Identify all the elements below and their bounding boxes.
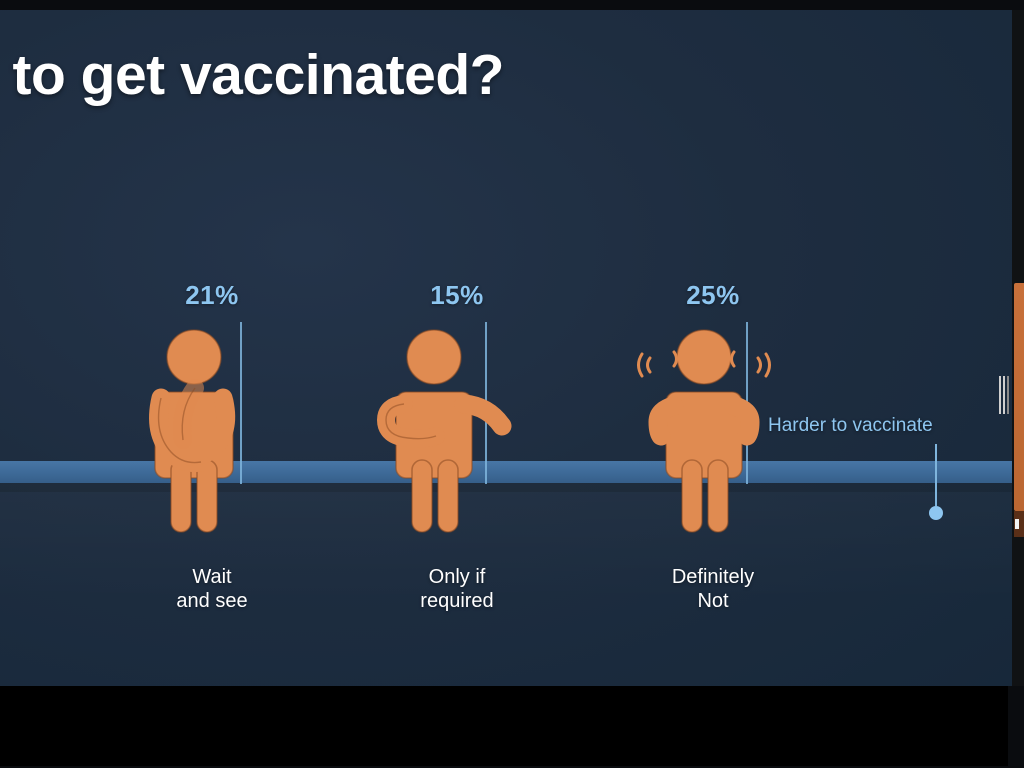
- percent-label-only-if-required: 15%: [362, 280, 552, 312]
- category-label-cropped: e: [0, 565, 40, 589]
- presentation-slide: plan to get vaccinated? en? % e 21%: [0, 10, 1012, 686]
- chart-column-wait-and-see: 21% Wait and see: [117, 280, 307, 312]
- top-letterbox-bar: [0, 0, 1024, 10]
- category-label-definitely-not: Definitely Not: [618, 565, 808, 614]
- annotation-end-dot: [929, 506, 943, 520]
- stick-figure-pointing: [376, 328, 516, 534]
- category-label-only-if-required: Only if required: [362, 565, 552, 614]
- right-edge-panel-sliver[interactable]: [1014, 283, 1024, 511]
- stick-figure-thinking: [139, 328, 249, 534]
- percent-label-definitely-not: 25%: [618, 280, 808, 312]
- right-edge-panel-marker: [1015, 519, 1019, 529]
- chart-column-definitely-not: 25% Defin: [618, 280, 808, 312]
- chart-column-only-if-required: 15% Only if required: [362, 280, 552, 312]
- category-label-wait-and-see: Wait and see: [117, 565, 307, 614]
- drag-handle-icon[interactable]: [999, 376, 1008, 414]
- percent-label-wait-and-see: 21%: [117, 280, 307, 312]
- chart-column-cropped-left: % e: [0, 280, 40, 312]
- percent-label-cropped: %: [0, 280, 40, 312]
- slide-title: plan to get vaccinated? en?: [0, 38, 982, 186]
- annotation-leader-line: [935, 444, 937, 506]
- annotation-harder-to-vaccinate: Harder to vaccinate: [768, 415, 933, 437]
- right-letterbox-bar: [1008, 686, 1024, 768]
- screen: plan to get vaccinated? en? % e 21%: [0, 0, 1024, 768]
- stick-figure-refusing: [634, 324, 774, 534]
